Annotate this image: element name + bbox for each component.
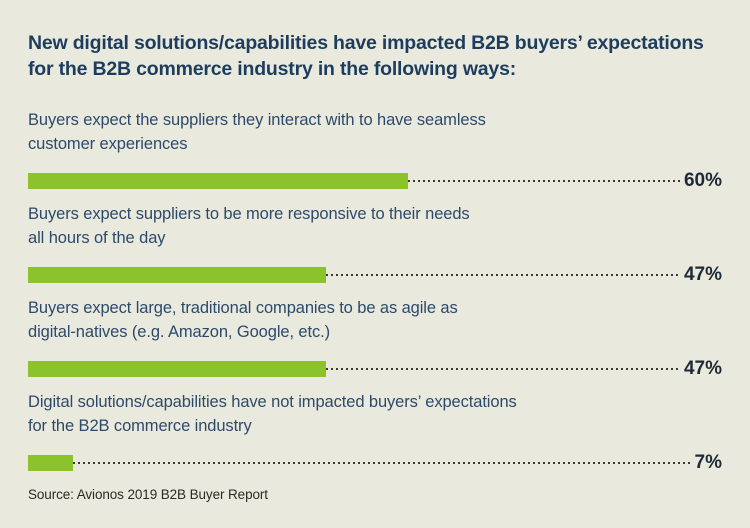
chart-title: New digital solutions/capabilities have …: [28, 30, 718, 82]
bar-track: [28, 266, 681, 284]
bar-row-label: Buyers expect the suppliers they interac…: [28, 108, 722, 156]
bar-track: [28, 172, 681, 190]
bar-row: Buyers expect the suppliers they interac…: [28, 108, 722, 202]
bar-value-label: 7%: [692, 454, 722, 472]
bar-line: 47%: [28, 266, 722, 284]
bar-fill: [28, 267, 326, 283]
bar-row: Buyers expect suppliers to be more respo…: [28, 202, 722, 296]
bar-fill: [28, 361, 326, 377]
bar-row-label: Buyers expect suppliers to be more respo…: [28, 202, 722, 250]
bar-value-label: 47%: [681, 266, 722, 284]
bar-row: Digital solutions/capabilities have not …: [28, 390, 722, 484]
bar-value-label: 47%: [681, 360, 722, 378]
infographic-chart: New digital solutions/capabilities have …: [0, 0, 750, 528]
bar-row: Buyers expect large, traditional compani…: [28, 296, 722, 390]
source-note: Source: Avionos 2019 B2B Buyer Report: [28, 487, 268, 502]
bar-line: 47%: [28, 360, 722, 378]
dot-leader: [326, 267, 681, 283]
bar-row-label: Buyers expect large, traditional compani…: [28, 296, 722, 344]
bar-rows: Buyers expect the suppliers they interac…: [28, 108, 722, 484]
bar-value-label: 60%: [681, 172, 722, 190]
bar-row-label: Digital solutions/capabilities have not …: [28, 390, 722, 438]
bar-fill: [28, 173, 408, 189]
bar-track: [28, 360, 681, 378]
bar-track: [28, 454, 692, 472]
dot-leader: [73, 455, 691, 471]
bar-line: 7%: [28, 454, 722, 472]
dot-leader: [408, 173, 681, 189]
bar-fill: [28, 455, 73, 471]
bar-line: 60%: [28, 172, 722, 190]
dot-leader: [326, 361, 681, 377]
